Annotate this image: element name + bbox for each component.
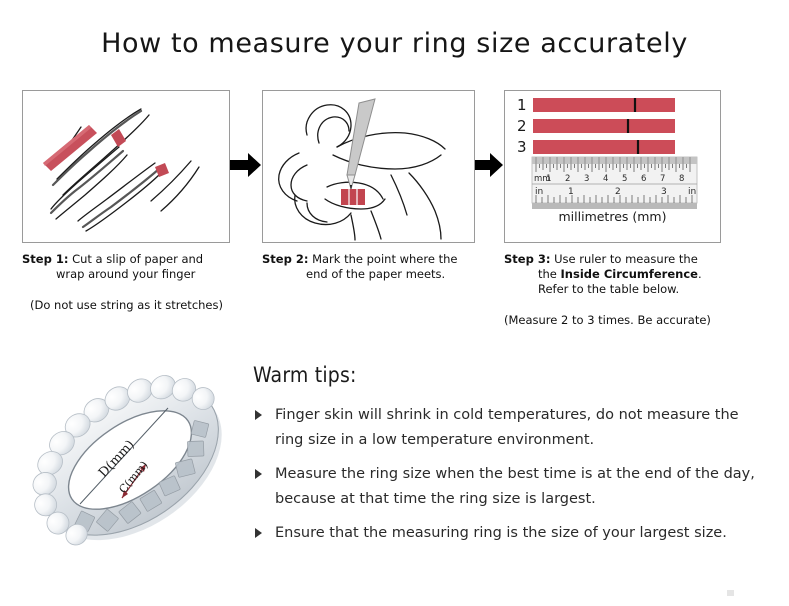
step-2-label: Step 2: [262, 252, 308, 266]
step-3-line2-suffix: . [698, 267, 702, 281]
triangle-bullet-icon [255, 469, 262, 479]
tip-item: Finger skin will shrink in cold temperat… [253, 403, 763, 453]
steps-row: Step 1: Cut a slip of paper and wrap aro… [0, 90, 789, 340]
warm-tips-heading: Warm tips: [253, 363, 763, 387]
step-2-panel [262, 90, 475, 243]
tip-text: Finger skin will shrink in cold temperat… [275, 403, 763, 453]
step-arrow-2-to-3 [470, 150, 504, 180]
step-2-column: Step 2: Mark the point where the end of … [262, 90, 475, 282]
ruler: mm 1 2 3 4 5 6 7 8 in 1 [532, 157, 697, 209]
svg-text:1: 1 [568, 187, 574, 197]
warm-tips-section: Warm tips: Finger skin will shrink in co… [253, 363, 763, 555]
step-1-caption: Step 1: Cut a slip of paper and wrap aro… [22, 252, 230, 282]
page-title: How to measure your ring size accurately [0, 28, 789, 59]
svg-text:5: 5 [622, 174, 627, 184]
step-1-label: Step 1: [22, 252, 68, 266]
step-3-line2-prefix: the [538, 267, 561, 281]
tip-text: Ensure that the measuring ring is the si… [275, 521, 763, 546]
step-1-panel [22, 90, 230, 243]
triangle-bullet-icon [255, 410, 262, 420]
step-2-line2: end of the paper meets. [262, 267, 475, 282]
corner-artifact [727, 590, 734, 596]
step-3-label: Step 3: [504, 252, 550, 266]
tip-item: Measure the ring size when the best time… [253, 462, 763, 512]
step-arrow-1-to-2 [228, 150, 262, 180]
step-1-line1: Cut a slip of paper and [72, 252, 203, 266]
paper-band-red [341, 189, 365, 205]
tip-item: Ensure that the measuring ring is the si… [253, 521, 763, 546]
hand-with-paper-slip-illustration [23, 91, 229, 242]
step-3-line3: Refer to the table below. [504, 282, 721, 297]
hand-marking-paper-illustration [263, 91, 474, 242]
strip-number-1: 1 [517, 96, 527, 114]
step-3-note: (Measure 2 to 3 times. Be accurate) [504, 313, 721, 328]
svg-text:3: 3 [584, 174, 589, 184]
svg-text:7: 7 [660, 174, 665, 184]
step-3-panel: 1 2 3 [504, 90, 721, 243]
tip-text: Measure the ring size when the best time… [275, 462, 763, 512]
ring-illustration: D(mm) C(mm) [18, 352, 246, 574]
svg-text:8: 8 [679, 174, 684, 184]
strip-number-3: 3 [517, 138, 527, 156]
step-1-column: Step 1: Cut a slip of paper and wrap aro… [22, 90, 230, 313]
svg-text:6: 6 [641, 174, 646, 184]
triangle-bullet-icon [255, 528, 262, 538]
step-3-caption: Step 3: Use ruler to measure the the Ins… [504, 252, 721, 297]
step-1-note: (Do not use string as it stretches) [22, 298, 230, 313]
strip-number-2: 2 [517, 117, 527, 135]
step-3-column: 1 2 3 [504, 90, 721, 328]
svg-text:1: 1 [546, 174, 551, 184]
step-3-line1: Use ruler to measure the [554, 252, 698, 266]
step-2-caption: Step 2: Mark the point where the end of … [262, 252, 475, 282]
svg-text:4: 4 [603, 174, 608, 184]
inside-circumference-emphasis: Inside Circumference [561, 267, 698, 281]
svg-text:3: 3 [661, 187, 667, 197]
ring-diagram: D(mm) C(mm) [18, 352, 246, 574]
step-1-line2: wrap around your finger [22, 267, 230, 282]
step-2-line1: Mark the point where the [312, 252, 457, 266]
svg-text:2: 2 [565, 174, 570, 184]
pen [347, 99, 375, 191]
ruler-unit-caption: millimetres (mm) [505, 209, 720, 224]
